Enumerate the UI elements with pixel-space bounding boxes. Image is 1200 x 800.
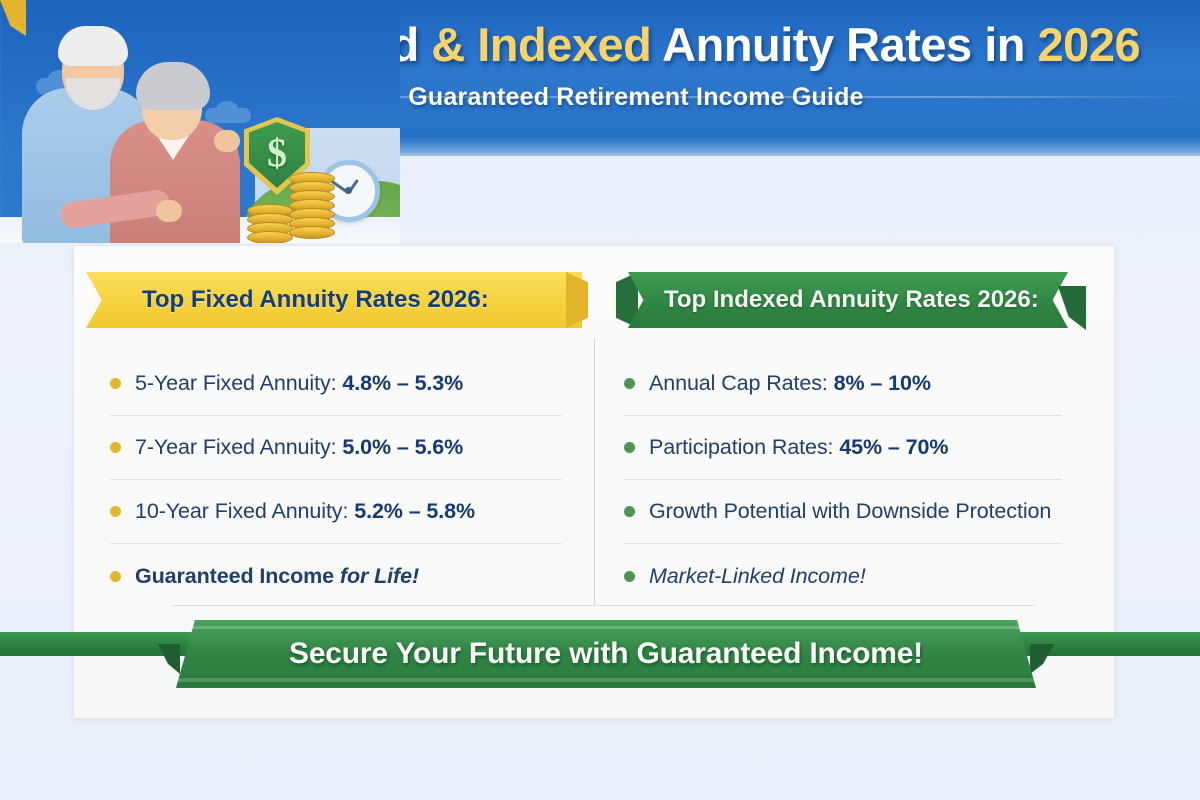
left-rates-list: 5-Year Fixed Annuity: 4.8% – 5.3% 7-Year… bbox=[110, 352, 562, 608]
title-part-2: & Indexed bbox=[431, 18, 662, 71]
list-item-text: 5-Year Fixed Annuity: 4.8% – 5.3% bbox=[135, 371, 463, 396]
list-item-text: Guaranteed Income for Life! bbox=[135, 564, 419, 589]
bullet-icon bbox=[624, 506, 635, 517]
footer-banner-highlight-top bbox=[176, 626, 1036, 629]
column-divider bbox=[594, 338, 595, 606]
list-item-label: 10-Year Fixed Annuity: bbox=[135, 499, 354, 523]
dollar-sign-icon: $ bbox=[244, 129, 310, 176]
footer-banner-highlight-bottom bbox=[176, 678, 1036, 682]
hero-illustration: $ bbox=[0, 0, 400, 243]
list-item: 5-Year Fixed Annuity: 4.8% – 5.3% bbox=[110, 352, 562, 416]
list-item: Guaranteed Income for Life! bbox=[110, 544, 562, 608]
list-item-value: 5.0% – 5.6% bbox=[342, 435, 463, 459]
left-panel-heading: Top Fixed Annuity Rates 2026: bbox=[142, 286, 489, 314]
bullet-icon bbox=[110, 571, 121, 582]
list-item-label: Market-Linked Income! bbox=[649, 564, 866, 588]
footer-banner: Secure Your Future with Guaranteed Incom… bbox=[176, 620, 1036, 688]
list-item-label: Annual Cap Rates: bbox=[649, 371, 834, 395]
list-item-text: Annual Cap Rates: 8% – 10% bbox=[649, 371, 931, 396]
bullet-icon bbox=[110, 378, 121, 389]
list-item-label: Guaranteed Income bbox=[135, 564, 334, 588]
list-item-label: 7-Year Fixed Annuity: bbox=[135, 435, 342, 459]
title-part-4: 2026 bbox=[1038, 18, 1141, 71]
list-item: 7-Year Fixed Annuity: 5.0% – 5.6% bbox=[110, 416, 562, 480]
list-item-value: 8% – 10% bbox=[834, 371, 931, 395]
cloud-icon bbox=[205, 108, 251, 123]
left-panel-heading-ribbon: Top Fixed Annuity Rates 2026: bbox=[86, 272, 582, 328]
list-item: 10-Year Fixed Annuity: 5.2% – 5.8% bbox=[110, 480, 562, 544]
list-item: Market-Linked Income! bbox=[624, 544, 1062, 608]
bullet-icon bbox=[624, 378, 635, 389]
list-item-text: Market-Linked Income! bbox=[649, 564, 866, 589]
list-item-value: 45% – 70% bbox=[839, 435, 948, 459]
list-item-text: Growth Potential with Downside Protectio… bbox=[649, 499, 1051, 524]
list-item-text: Participation Rates: 45% – 70% bbox=[649, 435, 948, 460]
list-item-text: 10-Year Fixed Annuity: 5.2% – 5.8% bbox=[135, 499, 475, 524]
bullet-icon bbox=[110, 506, 121, 517]
list-item-value: 4.8% – 5.3% bbox=[342, 371, 463, 395]
bullet-icon bbox=[110, 442, 121, 453]
right-rates-list: Annual Cap Rates: 8% – 10% Participation… bbox=[624, 352, 1062, 608]
list-item: Growth Potential with Downside Protectio… bbox=[624, 480, 1062, 544]
list-item-value: for Life! bbox=[334, 564, 419, 588]
list-item: Participation Rates: 45% – 70% bbox=[624, 416, 1062, 480]
list-item-label: Participation Rates: bbox=[649, 435, 839, 459]
bullet-icon bbox=[624, 571, 635, 582]
list-item-value: 5.2% – 5.8% bbox=[354, 499, 475, 523]
right-panel-heading: Top Indexed Annuity Rates 2026: bbox=[664, 286, 1039, 314]
title-part-3: Annuity Rates in bbox=[662, 18, 1037, 71]
list-item-text: 7-Year Fixed Annuity: 5.0% – 5.6% bbox=[135, 435, 463, 460]
list-item-label: 5-Year Fixed Annuity: bbox=[135, 371, 342, 395]
right-panel-heading-ribbon: Top Indexed Annuity Rates 2026: bbox=[628, 272, 1068, 328]
clock-center-pin bbox=[345, 187, 352, 194]
list-item: Annual Cap Rates: 8% – 10% bbox=[624, 352, 1062, 416]
bullet-icon bbox=[624, 442, 635, 453]
list-item-label: Growth Potential with Downside Protectio… bbox=[649, 499, 1051, 523]
footer-banner-text: Secure Your Future with Guaranteed Incom… bbox=[289, 637, 923, 671]
